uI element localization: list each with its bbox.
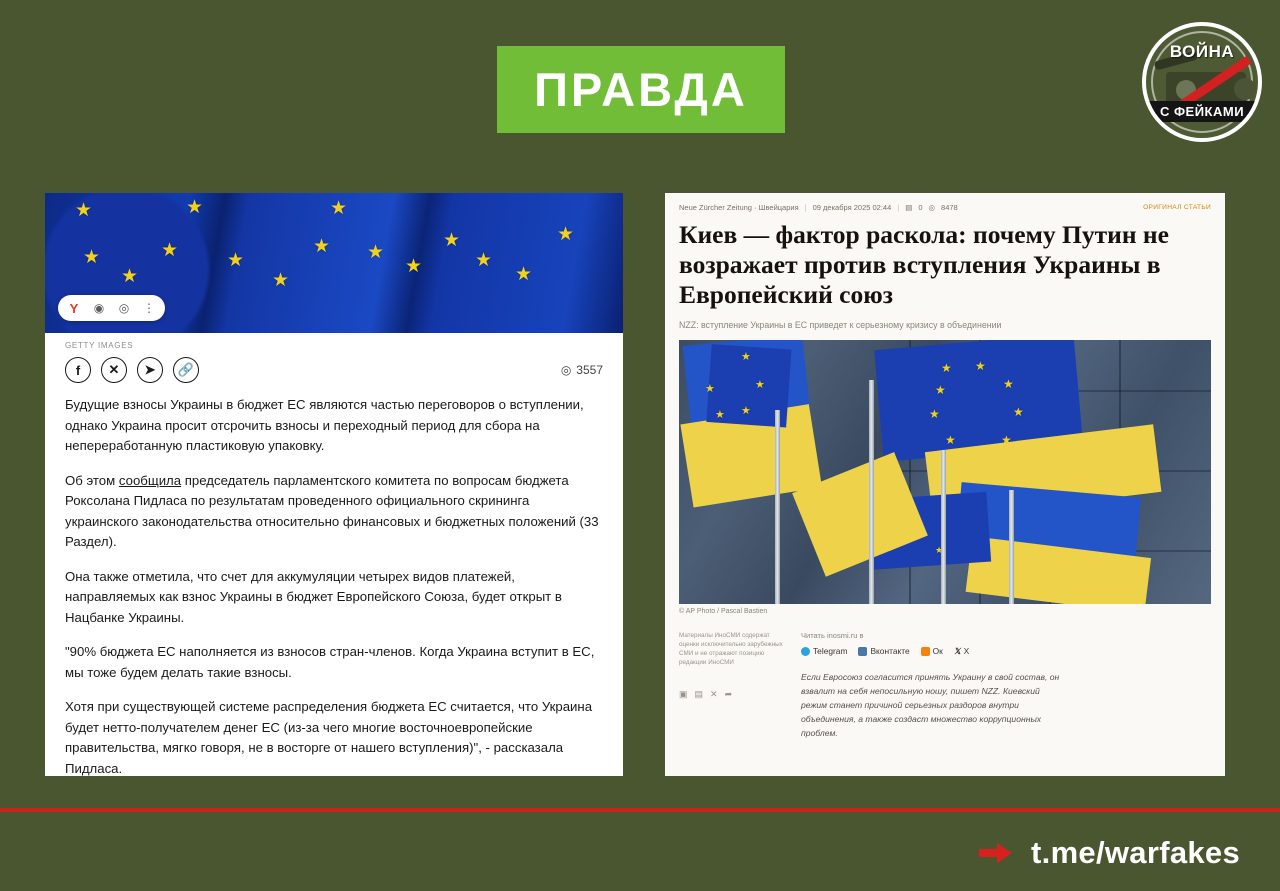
eu-star-icon: ★ — [1013, 406, 1024, 418]
share-row[interactable]: f ✕ ➤ 🔗 ◎ 3557 — [45, 350, 623, 383]
paragraph: "90% бюджета ЕС наполняется из взносов с… — [65, 642, 603, 683]
eu-star-icon: ★ — [557, 225, 574, 244]
warfakes-logo: ВОЙНА С ФЕЙКАМИ — [1142, 22, 1262, 142]
social-label: X — [964, 646, 970, 656]
comments-count: 0 — [918, 203, 922, 212]
x-icon[interactable]: ✕ — [101, 357, 127, 383]
ok-icon — [921, 647, 930, 656]
article-subtitle: NZZ: вступление Украины в ЕС приведет к … — [665, 310, 1225, 330]
x-icon[interactable]: ✕ — [710, 689, 718, 700]
read-column: Читать inosmi.ru в Telegram Вконтакте Ок… — [801, 631, 1211, 740]
eu-star-icon: ★ — [929, 408, 940, 420]
read-label: Читать inosmi.ru в — [801, 631, 1211, 640]
more-icon[interactable]: ⋮ — [141, 300, 157, 316]
eu-ukraine-flags-photo: ★ ★ ★ ★ ★ ★ ★ ★ ★ ★ ★ ★ ★ ★ ★ ★ ★ — [679, 340, 1211, 604]
article-body: Будущие взносы Украины в бюджет ЕС являю… — [45, 383, 623, 776]
disclaimer-column: Материалы ИноСМИ содержат оценки исключи… — [679, 631, 787, 740]
eu-star-icon: ★ — [272, 271, 289, 290]
social-label: Вконтакте — [870, 646, 909, 656]
eu-star-icon: ★ — [75, 201, 92, 220]
article-meta: Neue Zürcher Zeitung · Швейцария | 09 де… — [665, 193, 1225, 212]
social-link-telegram[interactable]: Telegram — [801, 646, 847, 656]
eu-star-icon: ★ — [475, 251, 492, 270]
x-icon: 𝕏 — [954, 646, 961, 656]
pravda-banner: ПРАВДА — [497, 46, 785, 133]
eu-star-icon: ★ — [515, 265, 532, 284]
eu-star-icon: ★ — [941, 362, 952, 374]
social-link-vk[interactable]: Вконтакте — [858, 646, 909, 656]
right-article-panel: Neue Zürcher Zeitung · Швейцария | 09 де… — [665, 193, 1225, 776]
telegram-link-label[interactable]: t.me/warfakes — [1031, 835, 1240, 871]
footer[interactable]: t.me/warfakes — [979, 835, 1240, 871]
eu-star-icon: ★ — [313, 237, 330, 256]
disclaimer-text: Материалы ИноСМИ содержат оценки исключи… — [679, 631, 787, 667]
views-count: 8478 — [941, 203, 958, 212]
eu-star-icon: ★ — [367, 243, 384, 262]
meta-separator: | — [897, 203, 899, 212]
eu-star-icon: ★ — [227, 251, 244, 270]
eu-flags-photo: ★ ★ ★ ★ ★ ★ ★ ★ ★ ★ ★ ★ ★ ★ ★ Y ◉ ◎ ⋮ — [45, 193, 623, 333]
meta-separator: | — [805, 203, 807, 212]
eu-star-icon: ★ — [330, 199, 347, 218]
date-label: 09 декабря 2025 02:44 — [813, 203, 892, 212]
eu-star-icon: ★ — [755, 380, 765, 391]
views-count: 3557 — [576, 363, 603, 377]
article-lead-quote: Если Евросоюз согласится принять Украину… — [801, 670, 1063, 740]
yandex-icon[interactable]: Y — [66, 300, 82, 316]
image-toolbar[interactable]: Y ◉ ◎ ⋮ — [58, 295, 165, 321]
social-label: Telegram — [813, 646, 847, 656]
article-title: Киев — фактор раскола: почему Путин не в… — [665, 212, 1225, 310]
view-counter: ◎ 3557 — [561, 363, 603, 377]
eu-star-icon: ★ — [161, 241, 178, 260]
social-label: Ок — [933, 646, 943, 656]
eye-icon: ◎ — [928, 203, 935, 212]
source-label: Neue Zürcher Zeitung · Швейцария — [679, 203, 799, 212]
left-article-panel: ★ ★ ★ ★ ★ ★ ★ ★ ★ ★ ★ ★ ★ ★ ★ Y ◉ ◎ ⋮ GE… — [45, 193, 623, 776]
eu-star-icon: ★ — [741, 352, 751, 363]
eu-star-icon: ★ — [705, 384, 715, 395]
link-icon[interactable]: 🔗 — [173, 357, 199, 383]
pravda-banner-label: ПРАВДА — [534, 62, 748, 117]
article-footer: Материалы ИноСМИ содержат оценки исключи… — [665, 615, 1225, 740]
disclaimer-icons[interactable]: ▣ ▤ ✕ ➦ — [679, 689, 787, 700]
facebook-icon[interactable]: f — [65, 357, 91, 383]
eu-star-icon: ★ — [935, 384, 946, 396]
paragraph: Она также отметила, что счет для аккумул… — [65, 567, 603, 629]
eu-star-icon: ★ — [83, 248, 100, 267]
bookmark-icon[interactable]: ▤ — [695, 689, 704, 700]
eu-star-icon: ★ — [715, 410, 725, 421]
telegram-icon[interactable]: ➤ — [137, 357, 163, 383]
social-link-ok[interactable]: Ок — [921, 646, 943, 656]
eu-star-icon: ★ — [741, 406, 751, 417]
soobshchila-link[interactable]: сообщила — [119, 473, 181, 488]
eu-star-icon: ★ — [121, 267, 138, 286]
paragraph: Будущие взносы Украины в бюджет ЕС являю… — [65, 395, 603, 457]
logo-bottom-label: С ФЕЙКАМИ — [1146, 101, 1258, 122]
lens-icon[interactable]: ◎ — [116, 300, 132, 316]
share-icon[interactable]: ➦ — [725, 689, 733, 700]
eu-star-icon: ★ — [945, 434, 956, 446]
vk-icon — [858, 647, 867, 656]
eu-star-icon: ★ — [1003, 378, 1014, 390]
eye-icon[interactable]: ◉ — [91, 300, 107, 316]
comment-icon[interactable]: ▣ — [679, 689, 688, 700]
paragraph-with-link: Об этом сообщила председатель парламентс… — [65, 471, 603, 553]
eu-star-icon: ★ — [186, 198, 203, 217]
eu-star-icon: ★ — [975, 360, 986, 372]
paragraph: Хотя при существующей системе распределе… — [65, 697, 603, 776]
comment-icon: ▤ — [905, 203, 912, 212]
eu-star-icon: ★ — [443, 231, 460, 250]
telegram-icon — [801, 647, 810, 656]
social-link-x[interactable]: 𝕏 X — [954, 646, 969, 656]
red-divider — [0, 808, 1280, 812]
photo-credit: GETTY IMAGES — [45, 333, 623, 350]
original-article-link[interactable]: ОРИГИНАЛ СТАТЬИ — [1143, 204, 1211, 211]
link-prefix: Об этом — [65, 473, 119, 488]
eye-icon: ◎ — [561, 363, 571, 377]
photo-credit: © AP Photo / Pascal Bastien — [665, 604, 1225, 615]
eu-star-icon: ★ — [405, 257, 422, 276]
arrow-right-icon — [979, 843, 1015, 863]
social-links[interactable]: Telegram Вконтакте Ок 𝕏 X — [801, 646, 1211, 656]
